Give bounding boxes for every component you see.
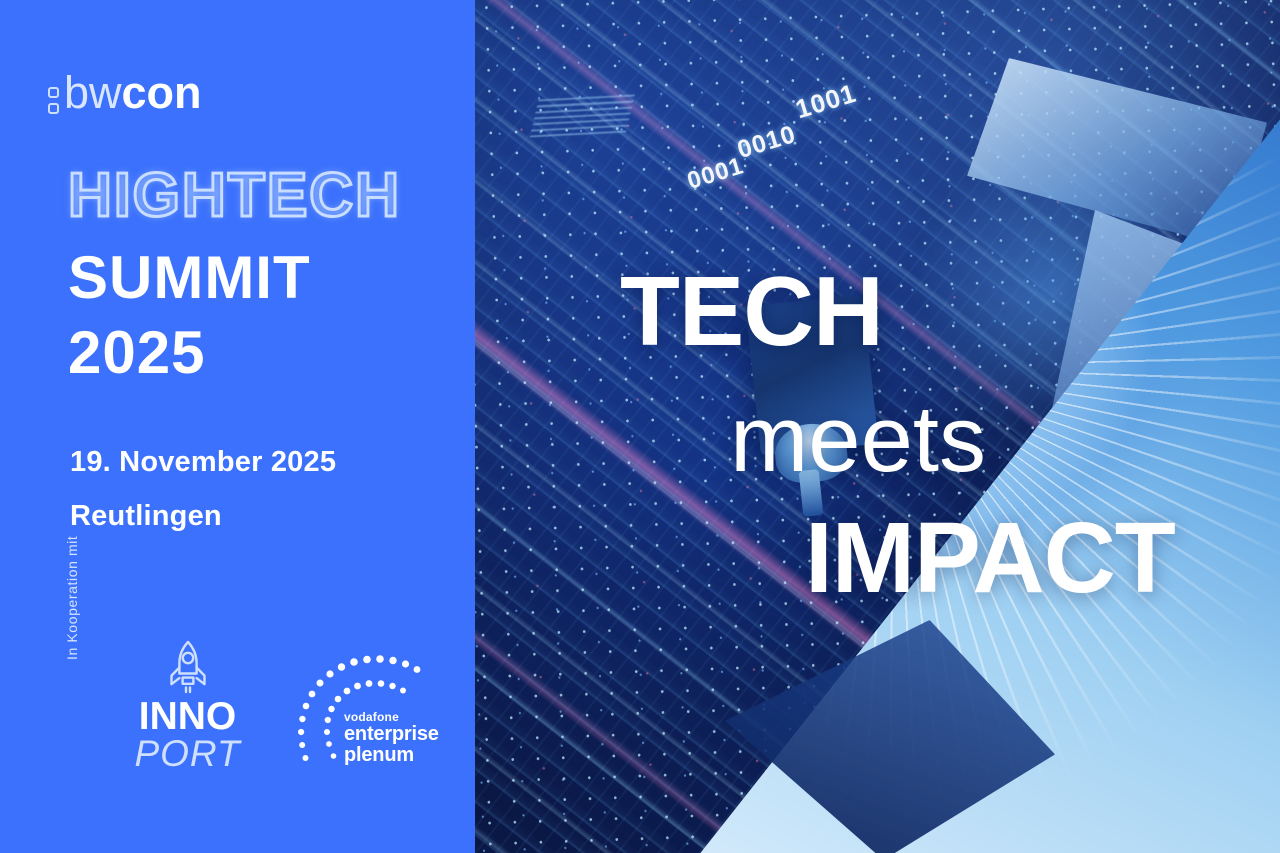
bwcon-dot-bottom [48, 103, 59, 114]
page-title-year: 2025 [68, 318, 205, 387]
event-location: Reutlingen [70, 500, 222, 533]
bwcon-wordmark-bw: bw [64, 67, 122, 118]
vodafone-line-enterprise: enterprise [344, 724, 439, 745]
hero-headline-tech: TECH [620, 262, 883, 360]
data-panel-graphic [530, 93, 636, 138]
vodafone-line-plenum: plenum [344, 745, 439, 766]
bwcon-logo: bwcon [48, 70, 202, 115]
info-panel: bwcon HIGHTECH SUMMIT 2025 19. November … [0, 0, 475, 853]
innoport-inno: INNO [125, 698, 250, 735]
bwcon-wordmark-con: con [122, 67, 202, 118]
innoport-port: PORT [125, 735, 250, 772]
rocket-icon [160, 638, 216, 696]
event-date: 19. November 2025 [70, 446, 336, 479]
bwcon-dots-icon [48, 87, 59, 114]
bwcon-wordmark: bwcon [64, 70, 202, 115]
partner-logo-vodafone-enterprise-plenum: vodafone enterprise plenum [292, 638, 460, 788]
page-title-hightech: HIGHTECH [68, 160, 401, 231]
hero-image: 1001 0010 0001 TECH meets IMPACT [475, 0, 1280, 853]
bwcon-dot-top [48, 87, 59, 98]
cooperation-label: In Kooperation mit [64, 536, 80, 660]
event-poster: 1001 0010 0001 TECH meets IMPACT bwcon H… [0, 0, 1280, 853]
hero-headline-meets: meets [730, 392, 986, 486]
vodafone-wordmark: vodafone enterprise plenum [344, 711, 439, 766]
partner-logo-innoport: INNO PORT [125, 638, 250, 772]
vodafone-line-vodafone: vodafone [344, 711, 439, 724]
page-title-summit: SUMMIT [68, 243, 311, 312]
hero-headline-impact: IMPACT [805, 508, 1175, 608]
